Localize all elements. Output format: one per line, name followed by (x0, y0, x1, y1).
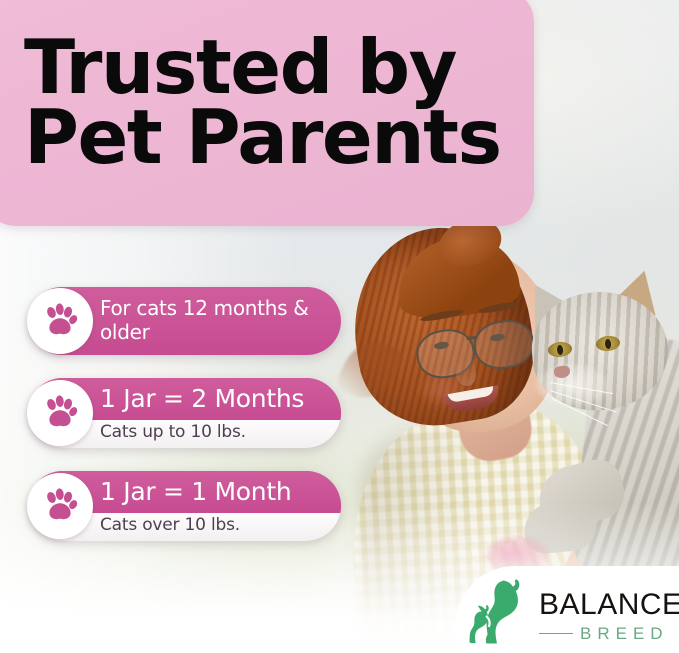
feature-headline: For cats 12 months & older (100, 297, 325, 344)
brand-logo-row: BALANCED® BREED (465, 572, 679, 648)
headline-line-2: Pet Parents (24, 102, 501, 173)
feature-subtext: Cats up to 10 lbs. (100, 423, 246, 442)
feature-pill-list: For cats 12 months & older (28, 287, 341, 564)
page-title: Trusted by Pet Parents (0, 32, 501, 183)
brand-name: BALANCED® (539, 590, 679, 620)
brand-logo: BALANCED® BREED (455, 566, 679, 653)
brand-tagline: BREED (580, 625, 669, 642)
paw-print-icon (27, 473, 93, 539)
brand-tagline-row: BREED (539, 625, 679, 642)
brand-name-text: BALANCED (539, 588, 679, 621)
headline-line-1: Trusted by (24, 32, 501, 103)
feature-subtext: Cats over 10 lbs. (100, 516, 240, 535)
feature-pill-one-month: 1 Jar = 1 Month Cats over 10 lbs. (28, 471, 341, 541)
dog-and-cat-silhouette-icon (465, 572, 537, 648)
marketing-image-canvas: Trusted by Pet Parents For cats 12 month… (0, 0, 679, 653)
feature-pill-two-months: 1 Jar = 2 Months Cats up to 10 lbs. (28, 378, 341, 448)
paw-print-icon (27, 288, 93, 354)
headline-banner: Trusted by Pet Parents (0, 0, 534, 226)
feature-headline: 1 Jar = 2 Months (100, 385, 325, 412)
feature-headline: 1 Jar = 1 Month (100, 478, 325, 505)
tagline-rule (539, 633, 573, 635)
paw-print-icon (27, 380, 93, 446)
cat-pupil (605, 339, 612, 350)
cat-pupil (557, 345, 564, 356)
brand-wordmark: BALANCED® BREED (539, 578, 679, 642)
feature-pill-age: For cats 12 months & older (28, 287, 341, 355)
